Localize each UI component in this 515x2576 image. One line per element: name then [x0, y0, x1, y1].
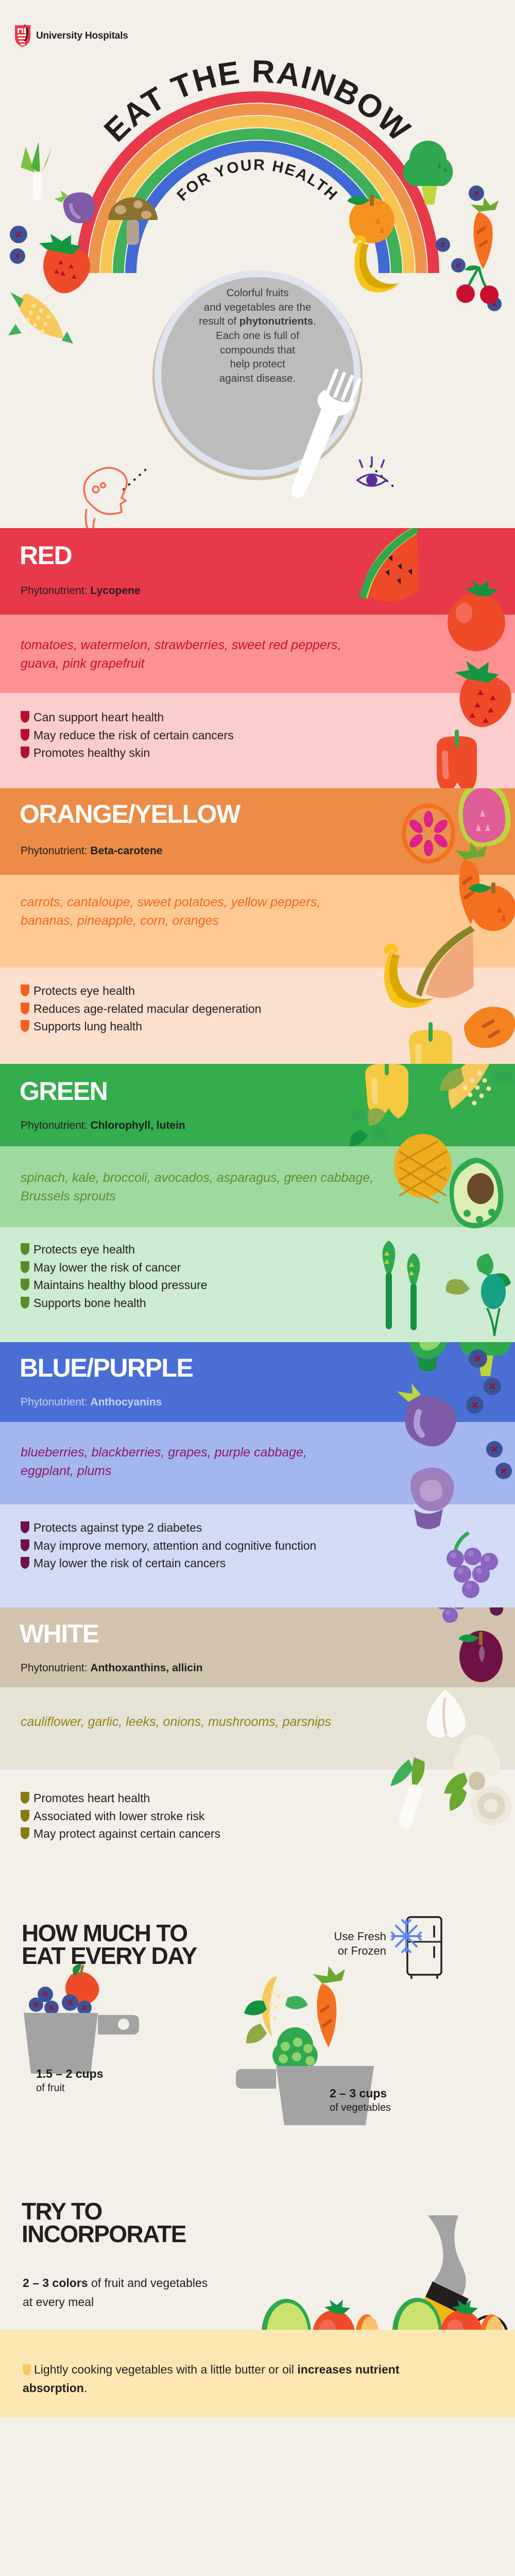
shield-bullet-icon [21, 1020, 29, 1032]
section-green: GREEN Phytonutrient: Chlorophyll, lutein… [0, 1064, 515, 1342]
section-blue-purple-title: BLUE/PURPLE [20, 1355, 193, 1381]
cup-veg-contents [244, 1966, 345, 2067]
shield-bullet-icon [21, 1297, 29, 1309]
benefit-item: May protect against certain cancers [21, 1825, 360, 1843]
cup-handle [236, 2069, 276, 2089]
section-orange-yellow-foods: carrots, cantaloupe, sweet potatoes, yel… [21, 893, 340, 930]
veg-cup-of: of vegetables [330, 2102, 391, 2114]
section-white-phytonutrient: Phytonutrient: Anthoxanthins, allicin [21, 1662, 203, 1674]
plate-line-4: Each one is full of [170, 329, 345, 343]
section-blue-purple-phytonutrient: Phytonutrient: Anthocyanins [21, 1396, 162, 1409]
section-green-foods: spinach, kale, broccoli, avocados, aspar… [21, 1169, 386, 1206]
brain-icon [84, 468, 127, 534]
infographic-page: University Hospitals EAT THE RAINBOW FOR… [0, 0, 515, 2576]
benefit-item: Protects against type 2 diabetes [21, 1519, 335, 1537]
plate-line-1: Colorful fruits [170, 286, 345, 300]
shield-bullet-icon [21, 1279, 29, 1291]
benefit-item: May lower the risk of certain cancers [21, 1554, 335, 1572]
section-white-foods-band: cauliflower, garlic, leeks, onions, mush… [0, 1687, 515, 1770]
brand-name: University Hospitals [36, 30, 128, 42]
benefit-item: Maintains healthy blood pressure [21, 1276, 360, 1294]
cup-body [24, 2013, 98, 2074]
fruit-cup-of: of fruit [36, 2082, 65, 2094]
plate-line-2: and vegetables are the [170, 300, 345, 315]
benefit-item: Supports lung health [21, 1018, 360, 1036]
section-blue-purple-benefits-band: Protects against type 2 diabetes May imp… [0, 1504, 515, 1607]
plate-line-6: help protect [170, 357, 345, 371]
section-blue-purple-foods-band: blueberries, blackberries, grapes, purpl… [0, 1422, 515, 1504]
benefit-item: Supports bone health [21, 1294, 360, 1312]
benefit-item: May lower the risk of cancer [21, 1259, 360, 1277]
shield-bullet-icon [21, 1243, 29, 1255]
section-green-header: GREEN Phytonutrient: Chlorophyll, lutein [0, 1064, 515, 1146]
snowflake-icon [392, 1920, 421, 1952]
hero-section: EAT THE RAINBOW FOR YOUR HEALTH [0, 57, 515, 531]
how-much-section: HOW MUCH TO EAT EVERY DAY Use Fresh or F… [0, 1870, 515, 2179]
section-red-title: RED [20, 543, 72, 568]
section-white-benefits-band: Promotes heart health Associated with lo… [0, 1770, 515, 1870]
shield-bullet-icon [21, 1557, 29, 1569]
section-orange-yellow-benefits: Protects eye health Reduces age-related … [21, 982, 360, 1036]
shield-bullet-icon [23, 2364, 31, 2376]
veg-cup-amount: 2 – 3 cups [330, 2087, 387, 2100]
benefit-item: Reduces age-related macular degeneration [21, 1000, 360, 1018]
shield-bullet-icon [21, 1261, 29, 1273]
shield-bullet-icon [21, 1792, 29, 1804]
plate-message: Colorful fruits and vegetables are the r… [170, 286, 345, 386]
section-orange-yellow: ORANGE/YELLOW Phytonutrient: Beta-carote… [0, 788, 515, 1064]
fruit-cup-amount: 1.5 – 2 cups [36, 2067, 103, 2081]
shield-bullet-icon [21, 1521, 29, 1533]
benefit-item: May improve memory, attention and cognit… [21, 1537, 335, 1555]
shield-bullet-icon [21, 711, 29, 723]
section-white: WHITE Phytonutrient: Anthoxanthins, alli… [0, 1607, 515, 1870]
section-white-header: WHITE Phytonutrient: Anthoxanthins, alli… [0, 1607, 515, 1687]
refrigerator-icon [389, 1914, 451, 1981]
section-red-header: RED Phytonutrient: Lycopene [0, 528, 515, 615]
header-brand-logo: University Hospitals [14, 25, 128, 47]
shield-bullet-icon [21, 1003, 29, 1014]
broccoli-head [272, 2027, 318, 2067]
section-orange-yellow-foods-band: carrots, cantaloupe, sweet potatoes, yel… [0, 875, 515, 968]
cup-handle [98, 2015, 139, 2035]
benefit-item: Associated with lower stroke risk [21, 1807, 360, 1825]
section-white-foods: cauliflower, garlic, leeks, onions, mush… [21, 1713, 340, 1732]
section-blue-purple-foods: blueberries, blackberries, grapes, purpl… [21, 1444, 340, 1480]
tip-message: Lightly cooking vegetables with a little… [23, 2361, 414, 2397]
section-red-benefits: Can support heart health May reduce the … [21, 708, 360, 762]
section-blue-purple: BLUE/PURPLE Phytonutrient: Anthocyanins … [0, 1342, 515, 1607]
shield-bullet-icon [21, 1810, 29, 1822]
section-green-benefits: Protects eye health May lower the risk o… [21, 1241, 360, 1312]
section-red: RED Phytonutrient: Lycopene tomatoes, wa… [0, 528, 515, 788]
benefit-item: Promotes heart health [21, 1789, 360, 1807]
benefit-item: Protects eye health [21, 982, 360, 1000]
uh-shield-logo-icon [14, 25, 31, 47]
incorporate-title: TRY TO INCORPORATE [22, 2200, 186, 2245]
shield-bullet-icon [21, 747, 29, 758]
section-orange-yellow-title: ORANGE/YELLOW [20, 801, 240, 827]
use-fresh-frozen-label: Use Fresh or Frozen [324, 1929, 386, 1958]
shield-bullet-icon [21, 729, 29, 741]
section-white-title: WHITE [20, 1621, 99, 1647]
plate-line-5: compounds that [170, 343, 345, 358]
shield-bullet-icon [21, 1539, 29, 1551]
cup-fruit-contents [29, 1963, 99, 2015]
section-blue-purple-header: BLUE/PURPLE Phytonutrient: Anthocyanins [0, 1342, 515, 1422]
benefit-item: Can support heart health [21, 708, 360, 726]
section-red-foods-band: tomatoes, watermelon, strawberries, swee… [0, 615, 515, 693]
section-green-title: GREEN [20, 1078, 107, 1104]
section-green-phytonutrient: Phytonutrient: Chlorophyll, lutein [21, 1120, 185, 1132]
section-red-benefits-band: Can support heart health May reduce the … [0, 693, 515, 788]
plate-line-7: against disease. [170, 371, 345, 386]
plate-line-3: result of phytonutrients. [170, 314, 345, 329]
shield-bullet-icon [21, 985, 29, 996]
eye-icon [357, 456, 386, 486]
section-orange-yellow-phytonutrient: Phytonutrient: Beta-carotene [21, 845, 162, 857]
shield-bullet-icon [21, 1827, 29, 1839]
incorporate-subtitle: 2 – 3 colors of fruit and vegetables at … [23, 2274, 208, 2312]
section-white-benefits: Promotes heart health Associated with lo… [21, 1789, 360, 1843]
benefit-item: May reduce the risk of certain cancers [21, 726, 360, 744]
section-green-benefits-band: Protects eye health May lower the risk o… [0, 1227, 515, 1342]
section-green-foods-band: spinach, kale, broccoli, avocados, aspar… [0, 1146, 515, 1227]
section-orange-yellow-header: ORANGE/YELLOW Phytonutrient: Beta-carote… [0, 788, 515, 875]
how-much-title: HOW MUCH TO EAT EVERY DAY [22, 1922, 197, 1967]
benefit-item: Protects eye health [21, 1241, 360, 1259]
section-red-phytonutrient: Phytonutrient: Lycopene [21, 585, 141, 597]
section-orange-yellow-benefits-band: Protects eye health Reduces age-related … [0, 968, 515, 1064]
section-red-foods: tomatoes, watermelon, strawberries, swee… [21, 636, 355, 673]
benefit-item: Promotes healthy skin [21, 744, 360, 762]
section-blue-purple-benefits: Protects against type 2 diabetes May imp… [21, 1519, 335, 1572]
